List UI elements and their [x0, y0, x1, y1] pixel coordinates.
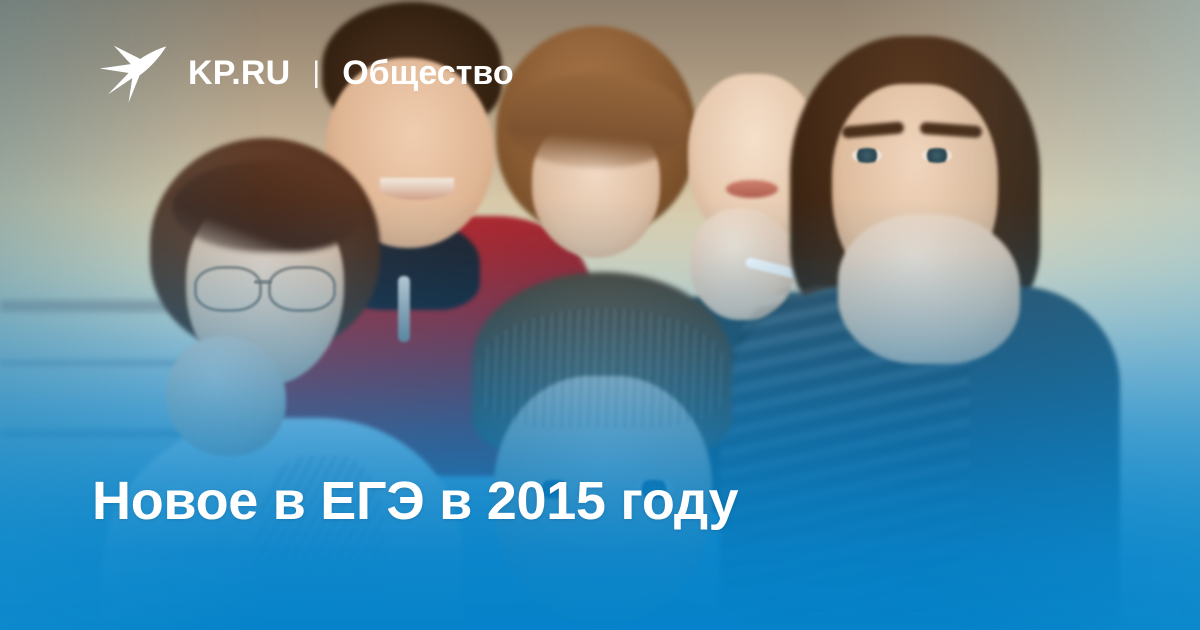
person-boy-in-foreground	[472, 272, 742, 630]
brand-header: KP.RU | Общество	[96, 36, 514, 110]
kp-swallow-bird-logo-icon[interactable]	[96, 36, 170, 110]
brand-wordmark[interactable]: KP.RU	[188, 56, 290, 90]
social-share-card: KP.RU | Общество Новое в ЕГЭ в 2015 году	[0, 0, 1200, 630]
header-divider: |	[312, 58, 320, 88]
person-long-haired-young-man	[790, 36, 1190, 630]
headline-title: Новое в ЕГЭ в 2015 году	[92, 471, 1110, 531]
person-woman-with-glasses	[142, 138, 472, 630]
rubric-label[interactable]: Общество	[342, 56, 513, 90]
